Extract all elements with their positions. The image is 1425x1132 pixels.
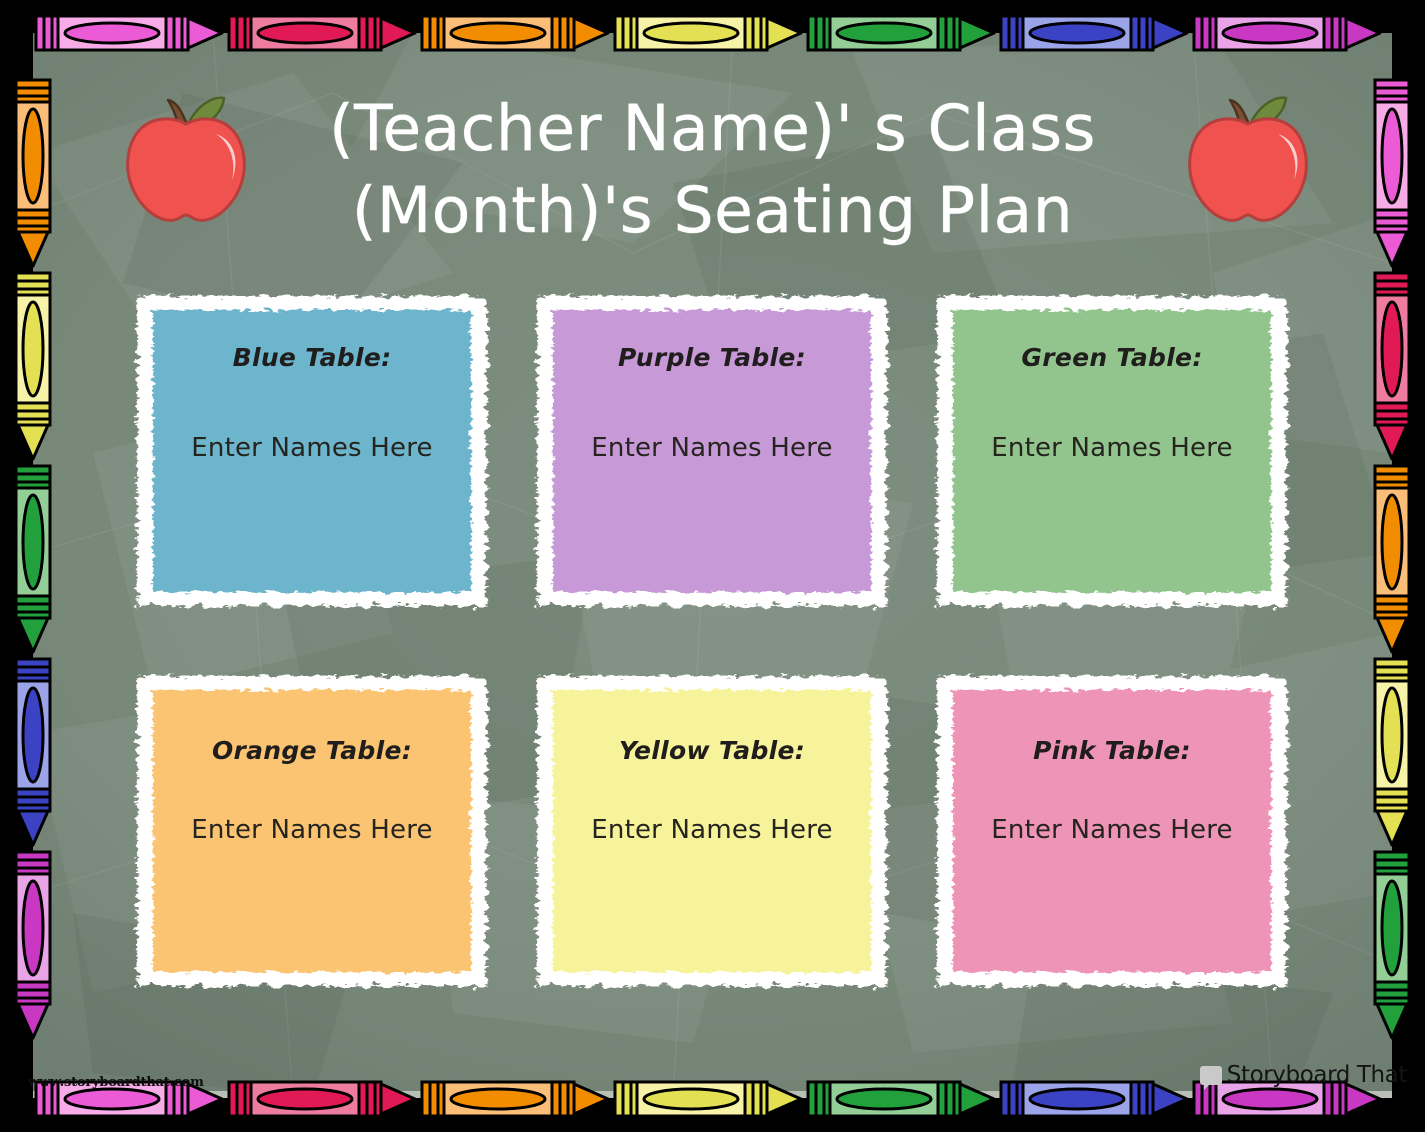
table-card-purple[interactable]: Purple Table:Enter Names Here xyxy=(537,296,887,606)
title-line-1: (Teacher Name)' s Class xyxy=(0,88,1425,170)
card-title-orange: Orange Table: xyxy=(212,736,412,765)
seating-plan-poster: (Teacher Name)' s Class (Month)'s Seatin… xyxy=(0,0,1425,1132)
card-content: Blue Table:Enter Names Here xyxy=(137,296,487,606)
poster-title: (Teacher Name)' s Class (Month)'s Seatin… xyxy=(0,88,1425,252)
card-title-blue: Blue Table: xyxy=(233,343,392,372)
card-content: Yellow Table:Enter Names Here xyxy=(537,676,887,986)
table-card-green[interactable]: Green Table:Enter Names Here xyxy=(937,296,1287,606)
table-card-orange[interactable]: Orange Table:Enter Names Here xyxy=(137,676,487,986)
table-card-blue[interactable]: Blue Table:Enter Names Here xyxy=(137,296,487,606)
card-names-input-purple[interactable]: Enter Names Here xyxy=(591,433,832,463)
card-names-input-yellow[interactable]: Enter Names Here xyxy=(591,815,832,845)
card-names-input-pink[interactable]: Enter Names Here xyxy=(991,815,1232,845)
watermark-url: www.storyboardthat.com xyxy=(28,1075,204,1090)
table-card-pink[interactable]: Pink Table:Enter Names Here xyxy=(937,676,1287,986)
card-content: Orange Table:Enter Names Here xyxy=(137,676,487,986)
card-title-pink: Pink Table: xyxy=(1033,736,1191,765)
table-card-yellow[interactable]: Yellow Table:Enter Names Here xyxy=(537,676,887,986)
storyboardthat-logo: Storyboard That xyxy=(1200,1060,1407,1090)
card-names-input-blue[interactable]: Enter Names Here xyxy=(191,433,432,463)
card-title-yellow: Yellow Table: xyxy=(619,736,805,765)
card-content: Purple Table:Enter Names Here xyxy=(537,296,887,606)
card-names-input-green[interactable]: Enter Names Here xyxy=(991,433,1232,463)
logo-text: Storyboard That xyxy=(1227,1062,1407,1088)
card-title-green: Green Table: xyxy=(1021,343,1202,372)
speech-bubble-icon xyxy=(1200,1066,1222,1085)
card-content: Green Table:Enter Names Here xyxy=(937,296,1287,606)
card-content: Pink Table:Enter Names Here xyxy=(937,676,1287,986)
card-title-purple: Purple Table: xyxy=(618,343,806,372)
card-names-input-orange[interactable]: Enter Names Here xyxy=(191,815,432,845)
title-line-2: (Month)'s Seating Plan xyxy=(0,170,1425,252)
